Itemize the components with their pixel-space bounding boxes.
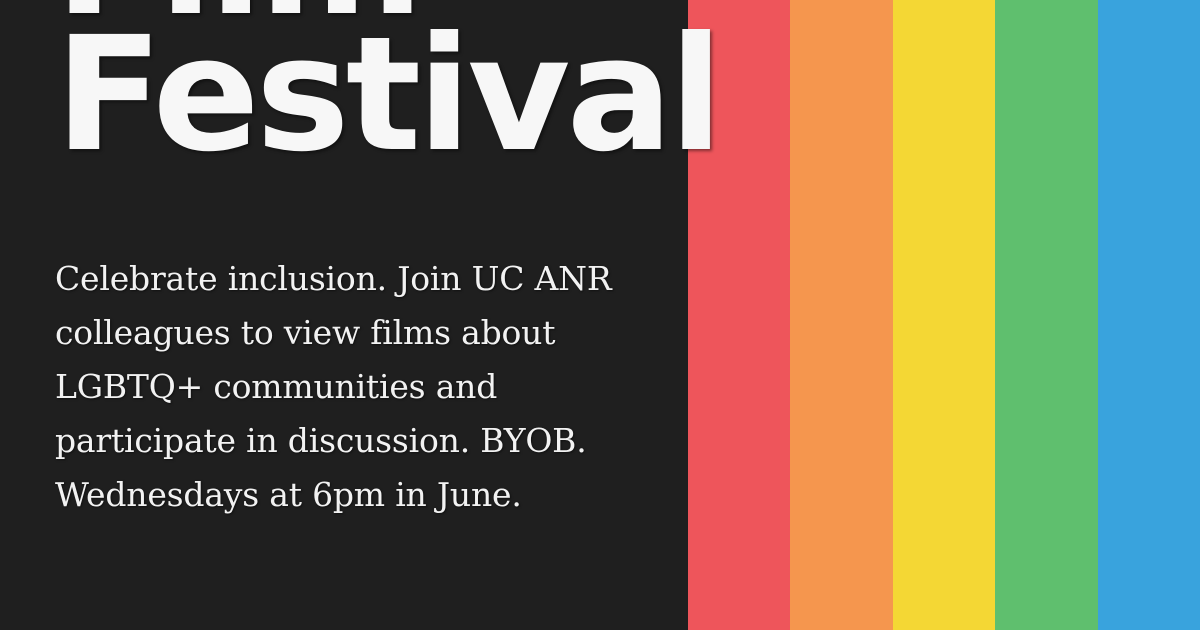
rainbow-stripe-band bbox=[688, 0, 1200, 630]
body-copy-line: participate in discussion. BYOB. bbox=[55, 414, 685, 468]
stripe-orange bbox=[790, 0, 892, 630]
body-copy-line: colleagues to view films about bbox=[55, 306, 685, 360]
poster-headline: Film Festival bbox=[55, 0, 719, 164]
body-copy-line: Wednesdays at 6pm in June. bbox=[55, 468, 685, 522]
stripe-yellow bbox=[893, 0, 995, 630]
stripe-blue bbox=[1098, 0, 1200, 630]
pride-film-festival-poster: Film Festival Celebrate inclusion. Join … bbox=[0, 0, 1200, 630]
body-copy-line: Celebrate inclusion. Join UC ANR bbox=[55, 252, 685, 306]
stripe-green bbox=[995, 0, 1097, 630]
poster-body-copy: Celebrate inclusion. Join UC ANR colleag… bbox=[55, 252, 685, 523]
headline-line-festival: Festival bbox=[55, 28, 719, 164]
body-copy-line: LGBTQ+ communities and bbox=[55, 360, 685, 414]
